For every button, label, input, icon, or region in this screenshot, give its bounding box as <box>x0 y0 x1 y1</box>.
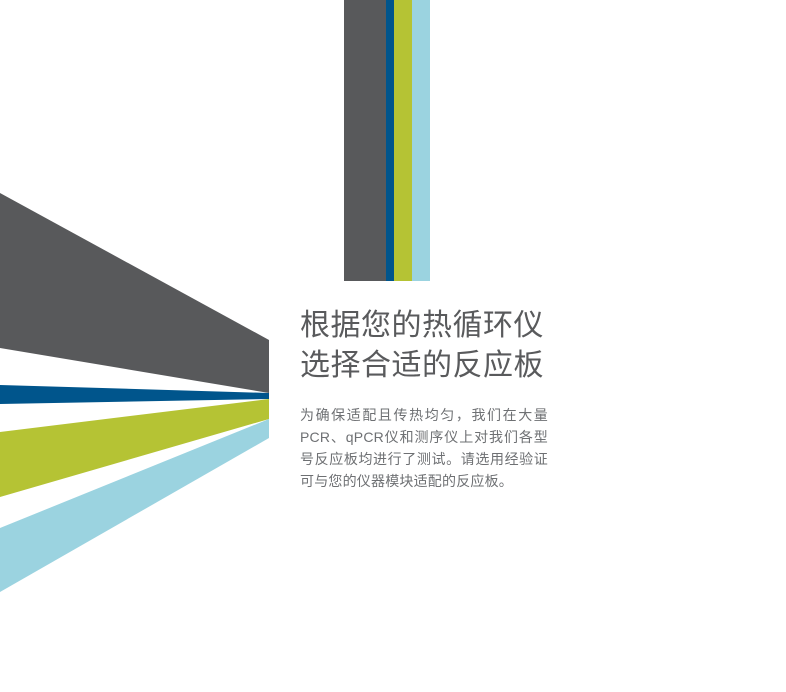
ribbon-olive-green-icon <box>0 399 269 497</box>
stripe-band-gray-icon <box>344 0 386 281</box>
stripe-band-light-blue-icon <box>412 0 430 281</box>
body-paragraph: 为确保适配且传热均匀，我们在大量PCR、qPCR仪和测序仪上对我们各型号反应板均… <box>300 386 548 492</box>
content-block: 根据您的热循环仪 选择合适的反应板 为确保适配且传热均匀，我们在大量PCR、qP… <box>300 306 548 492</box>
page-title: 根据您的热循环仪 选择合适的反应板 <box>300 306 548 386</box>
ribbon-light-blue-icon <box>0 419 269 592</box>
converging-ribbon-graphic <box>0 193 269 592</box>
stripe-band-dark-blue-icon <box>386 0 394 281</box>
promo-panel: 根据您的热循环仪 选择合适的反应板 为确保适配且传热均匀，我们在大量PCR、qP… <box>0 0 786 692</box>
vertical-color-stripe <box>344 0 430 281</box>
ribbon-dark-blue-icon <box>0 385 269 404</box>
ribbon-gray-icon <box>0 193 269 393</box>
stripe-band-olive-green-icon <box>394 0 412 281</box>
